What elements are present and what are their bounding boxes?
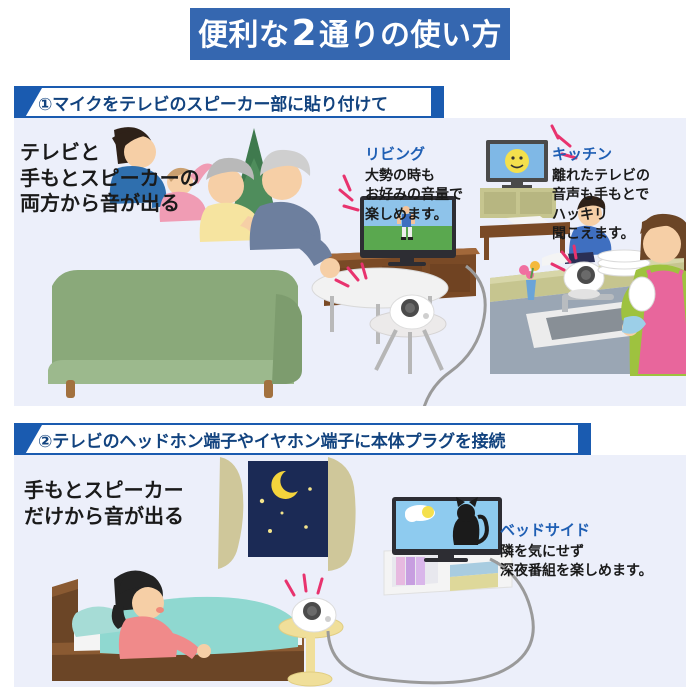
callout-living: リビング 大勢の時も お好みの音量で 楽しめます。 (365, 143, 463, 225)
section-2-header-label: ②テレビのヘッドホン端子やイヤホン端子に本体プラグを接続 (38, 423, 505, 455)
callout-living-title: リビング (365, 143, 463, 164)
title-suffix: 通りの使い方 (319, 18, 502, 53)
distant-television-art (486, 140, 548, 188)
infographic-page: 便利な2通りの使い方 ①マイクをテレビのスピーカー部に貼り付けて (0, 0, 700, 700)
section-1-header-label: ①マイクをテレビのスピーカー部に貼り付けて (38, 86, 388, 118)
tv-stand-art (480, 188, 556, 218)
night-window-art (248, 461, 328, 557)
title-number: 2 (289, 13, 319, 54)
television-cat-art (392, 497, 502, 562)
callout-kitchen-body: 離れたテレビの 音声も手もとで ハッキリ 聞こえます。 (552, 167, 650, 244)
title-banner: 便利な2通りの使い方 (190, 8, 510, 60)
section-2-header-endcap (580, 423, 591, 455)
section-1-header-endcap (433, 86, 444, 118)
callout-bedside: ベッドサイド 隣を気にせず 深夜番組を楽しめます。 (500, 519, 653, 582)
section-1-headline: テレビと 手もとスピーカーの 両方から音が出る (20, 140, 200, 217)
callout-kitchen: キッチン 離れたテレビの 音声も手もとで ハッキリ 聞こえます。 (552, 143, 650, 244)
handheld-speaker-kitchen-art (564, 262, 604, 299)
callout-kitchen-title: キッチン (552, 143, 650, 164)
callout-bedside-body: 隣を気にせず 深夜番組を楽しめます。 (500, 543, 653, 582)
callout-living-body: 大勢の時も お好みの音量で 楽しめます。 (365, 167, 463, 225)
sofa-art (48, 270, 302, 398)
bed-art (52, 579, 304, 681)
speaker-sound-waves-bedroom-art (286, 575, 322, 595)
page-title: 便利な2通りの使い方 (198, 16, 502, 52)
section-2-header: ②テレビのヘッドホン端子やイヤホン端子に本体プラグを接続 (14, 423, 591, 455)
section-1-header: ①マイクをテレビのスピーカー部に貼り付けて (14, 86, 444, 118)
person-grandfather-art (250, 150, 340, 278)
title-prefix: 便利な (198, 18, 290, 53)
tv-sound-waves-art (340, 176, 358, 210)
section-2-headline: 手もとスピーカー だけから音が出る (24, 478, 184, 529)
callout-bedside-title: ベッドサイド (500, 519, 653, 540)
